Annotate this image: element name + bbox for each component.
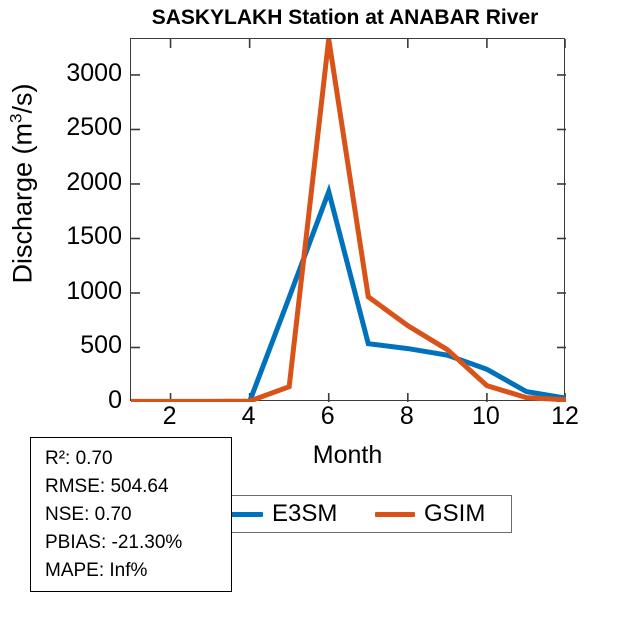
legend-line-swatch — [375, 512, 415, 517]
series-line-gsim — [131, 39, 566, 401]
statistics-box: R²: 0.70 RMSE: 504.64 NSE: 0.70 PBIAS: -… — [30, 437, 232, 592]
x-tick-label: 10 — [451, 404, 521, 429]
stat-rmse: RMSE: 504.64 — [45, 473, 231, 501]
stat-pbias-text: PBIAS: -21.30% — [45, 532, 182, 553]
figure-container: SASKYLAKH Station at ANABAR River Discha… — [0, 0, 625, 625]
x-tick-label: 12 — [530, 404, 600, 429]
y-axis-label-tail: /s) — [8, 84, 38, 114]
stat-mape-text: MAPE: Inf% — [45, 560, 147, 581]
stat-mape: MAPE: Inf% — [45, 557, 231, 585]
legend-entry-gsim[interactable]: GSIM — [375, 496, 485, 532]
x-axis-tick-labels: 24681012 — [130, 404, 565, 438]
x-tick-label: 4 — [214, 404, 284, 429]
x-tick-label: 6 — [293, 404, 363, 429]
y-tick-label: 2000 — [42, 170, 122, 195]
legend-entry-e3sm[interactable]: E3SM — [223, 496, 337, 532]
stat-r2: R²: 0.70 — [45, 445, 231, 473]
stat-pbias: PBIAS: -21.30% — [45, 529, 231, 557]
x-tick-label: 2 — [135, 404, 205, 429]
axis-tick-marks — [131, 39, 566, 402]
x-tick-label: 8 — [372, 404, 442, 429]
stat-r2-text: R²: 0.70 — [45, 448, 113, 469]
stat-nse-text: NSE: 0.70 — [45, 504, 132, 525]
plot-svg — [131, 39, 566, 402]
stat-nse: NSE: 0.70 — [45, 501, 231, 529]
y-tick-label: 3000 — [42, 61, 122, 86]
y-tick-label: 1000 — [42, 279, 122, 304]
series-line-e3sm — [131, 192, 566, 402]
y-axis-label: Discharge (m3/s) — [8, 0, 39, 384]
stat-rmse-text: RMSE: 504.64 — [45, 476, 169, 497]
chart-title: SASKYLAKH Station at ANABAR River — [120, 6, 570, 30]
y-axis-label-exponent: 3 — [7, 114, 26, 123]
data-series-group — [131, 39, 566, 402]
legend-label: E3SM — [272, 500, 337, 528]
legend-label: GSIM — [424, 500, 485, 528]
y-tick-label: 2500 — [42, 115, 122, 140]
y-tick-label: 500 — [42, 333, 122, 358]
y-axis-label-base: Discharge (m — [8, 123, 38, 284]
y-tick-label: 0 — [42, 388, 122, 413]
y-tick-label: 1500 — [42, 224, 122, 249]
y-axis-tick-labels: 050010001500200025003000 — [38, 38, 122, 401]
plot-area — [130, 38, 565, 401]
chart-legend: E3SMGSIM — [214, 495, 512, 533]
